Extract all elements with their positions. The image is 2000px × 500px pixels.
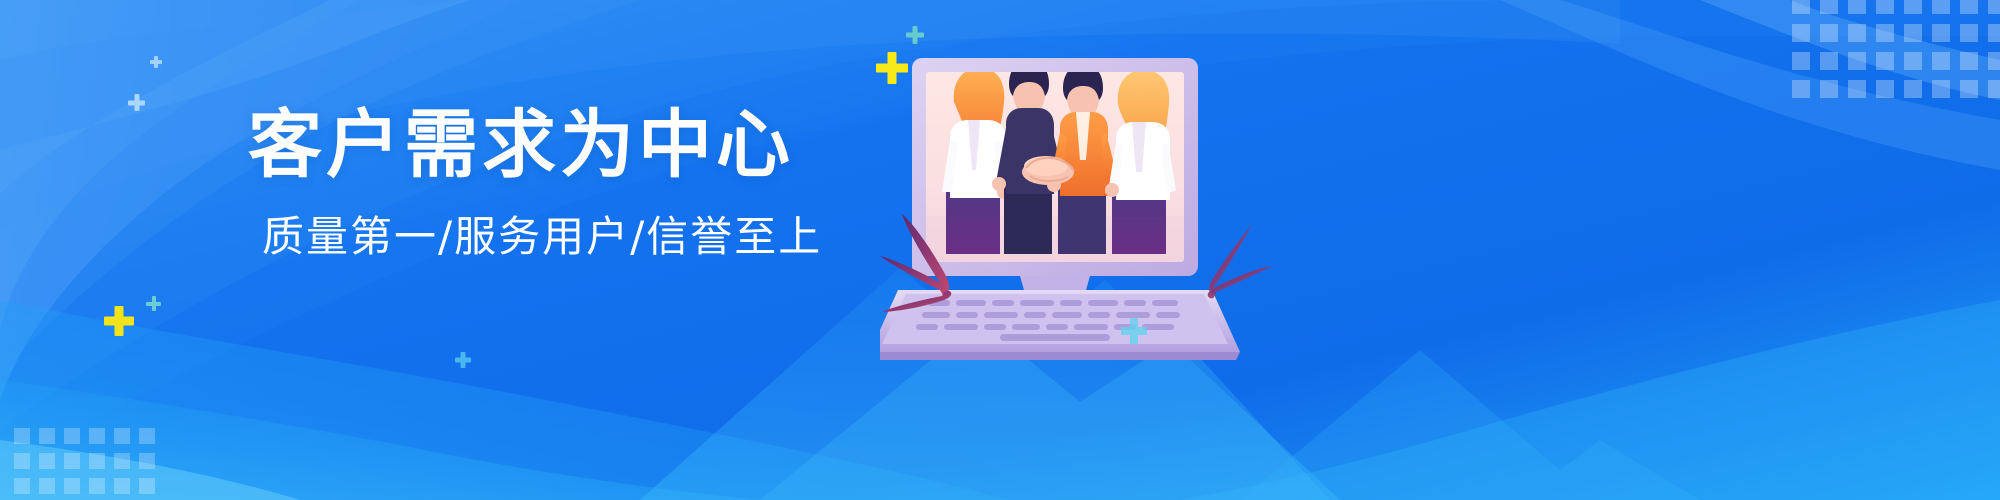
grid-dot [1792, 52, 1810, 70]
grid-dot [1792, 24, 1810, 42]
grid-dot [1848, 24, 1866, 42]
grid-dot [89, 453, 105, 469]
grid-dot [1960, 80, 1978, 98]
grid-dot [114, 453, 130, 469]
grid-dot [64, 453, 80, 469]
page-title: 客户需求为中心 [248, 108, 888, 182]
grid-dot [89, 478, 105, 494]
grid-dot [1932, 0, 1950, 14]
grid-dot [1960, 24, 1978, 42]
grid-dot [139, 428, 155, 444]
grid-dot [1904, 52, 1922, 70]
grid-dot [1932, 24, 1950, 42]
grid-dot [39, 478, 55, 494]
dot-grid-bottom-left [14, 428, 155, 494]
promo-banner: 客户需求为中心 质量第一/服务用户/信誉至上 [0, 0, 2000, 500]
grid-dot [1792, 0, 1810, 14]
plus-icon-yellow-large [876, 52, 908, 84]
plus-icon-cyan-middle [1121, 318, 1147, 344]
grid-dot [1876, 24, 1894, 42]
grid-dot [39, 453, 55, 469]
grid-dot [1904, 24, 1922, 42]
grid-dot [1988, 80, 2000, 98]
grid-dot [1792, 80, 1810, 98]
grid-dot [114, 478, 130, 494]
grid-dot [14, 453, 30, 469]
grid-dot [114, 428, 130, 444]
grid-dot [1904, 0, 1922, 14]
grid-dot [89, 428, 105, 444]
laptop-team-illustration [880, 40, 1300, 370]
grid-dot [1848, 80, 1866, 98]
grid-dot [1960, 52, 1978, 70]
grid-dot [1876, 0, 1894, 14]
grid-dot [1932, 52, 1950, 70]
grid-dot [1988, 24, 2000, 42]
grid-dot [14, 478, 30, 494]
grid-dot [1820, 24, 1838, 42]
grid-dot [1876, 80, 1894, 98]
grid-dot [1988, 52, 2000, 70]
grid-dot [39, 428, 55, 444]
grid-dot [1848, 0, 1866, 14]
dot-grid-top-right [1792, 0, 2000, 98]
grid-dot [1876, 52, 1894, 70]
headline-block: 客户需求为中心 质量第一/服务用户/信誉至上 [248, 108, 888, 258]
plus-icon-yellow-lower-left [104, 306, 134, 336]
plus-icon-white-upper-left [128, 94, 145, 111]
grid-dot [64, 478, 80, 494]
leaf-fronds-right [1208, 224, 1272, 298]
plus-icon-teal-lower-left [146, 296, 161, 311]
grid-dot [1820, 0, 1838, 14]
grid-dot [14, 428, 30, 444]
grid-dot [1848, 52, 1866, 70]
plus-icon-white-upper-left-small [150, 56, 162, 68]
grid-dot [1904, 80, 1922, 98]
grid-dot [139, 478, 155, 494]
page-subtitle: 质量第一/服务用户/信誉至上 [262, 216, 888, 258]
grid-dot [64, 428, 80, 444]
grid-dot [139, 453, 155, 469]
plus-icon-cyan-bottom [455, 352, 471, 368]
plus-icon-teal-small [906, 26, 924, 44]
grid-dot [1932, 80, 1950, 98]
grid-dot [1960, 0, 1978, 14]
grid-dot [1988, 0, 2000, 14]
grid-dot [1820, 52, 1838, 70]
grid-dot [1820, 80, 1838, 98]
